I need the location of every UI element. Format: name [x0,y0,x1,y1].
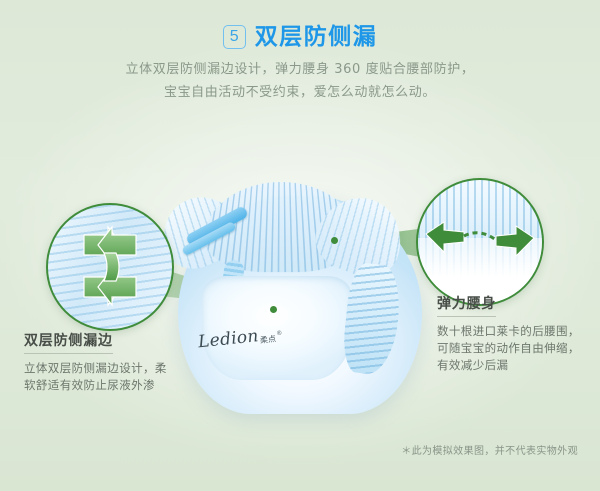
disclaimer-text: ＊此为模拟效果图，并不代表实物外观 [401,442,578,457]
stretch-arrows-icon [418,180,542,304]
registered-trademark-icon: ® [276,330,283,338]
callout-right: 弹力腰身 数十根进口莱卡的后腰围， 可随宝宝的动作自由伸缩， 有效减少后漏 [437,293,597,374]
section-number-badge: 5 [223,25,246,49]
subtitle-line-1: 立体双层防侧漏边设计，弹力腰身 360 度贴合腰部防护， [0,59,600,80]
magnifier-right [416,178,544,306]
brand-logo-chinese: 柔点 [260,335,277,345]
title-row: 5 双层防侧漏 [0,24,600,50]
callout-left-line-2: 软舒适有效防止尿液外渗 [24,377,204,394]
callout-left: 双层防侧漏边 立体双层防侧漏边设计，柔 软舒适有效防止尿液外渗 [24,330,204,394]
callout-right-heading: 弹力腰身 [437,293,496,317]
magnifier-left [46,203,174,331]
inward-arrows-icon [48,205,172,329]
callout-left-line-1: 立体双层防侧漏边设计，柔 [24,360,204,377]
callout-right-line-1: 数十根进口莱卡的后腰围， [437,323,597,340]
callout-left-heading: 双层防侧漏边 [24,330,113,354]
callout-right-line-3: 有效减少后漏 [437,357,597,374]
callout-right-lines: 数十根进口莱卡的后腰围， 可随宝宝的动作自由伸缩， 有效减少后漏 [437,323,597,374]
subtitle-line-2: 宝宝自由活动不受约束，爱怎么动就怎么动。 [0,82,600,103]
product-feature-banner: 5 双层防侧漏 立体双层防侧漏边设计，弹力腰身 360 度贴合腰部防护， 宝宝自… [0,0,600,491]
connector-dot-left [270,306,277,313]
page-title: 双层防侧漏 [255,24,378,50]
callout-right-line-2: 可随宝宝的动作自由伸缩， [437,340,597,357]
header: 5 双层防侧漏 立体双层防侧漏边设计，弹力腰身 360 度贴合腰部防护， 宝宝自… [0,24,600,103]
connector-dot-right [331,237,338,244]
callout-left-lines: 立体双层防侧漏边设计，柔 软舒适有效防止尿液外渗 [24,360,204,394]
